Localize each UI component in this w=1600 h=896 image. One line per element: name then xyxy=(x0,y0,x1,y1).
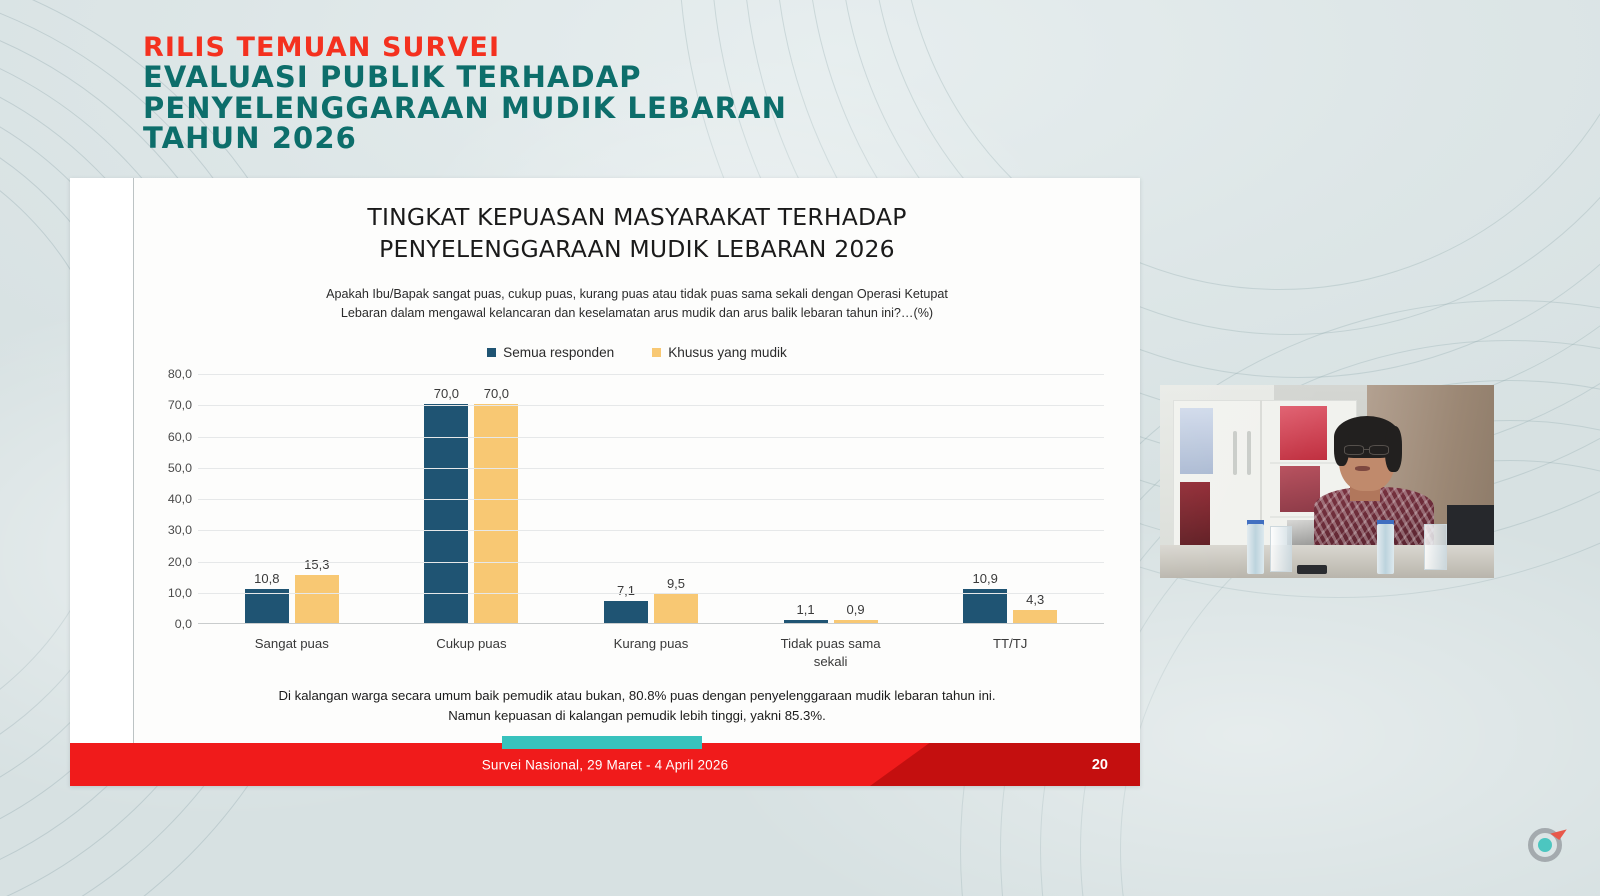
x-axis-tick-label: Cukup puas xyxy=(382,626,562,671)
x-axis-tick-line: Sangat puas xyxy=(202,635,382,653)
indikator-watermark-logo xyxy=(1528,828,1562,862)
bar-value-label: 9,5 xyxy=(667,576,685,591)
y-axis-tick-label: 70,0 xyxy=(168,398,192,412)
y-axis-tick-label: 0,0 xyxy=(175,617,192,631)
footer-page-number: 20 xyxy=(1092,757,1108,773)
chart-gridline xyxy=(198,374,1104,375)
chart-gridline xyxy=(198,593,1104,594)
y-axis-tick-label: 30,0 xyxy=(168,523,192,537)
y-axis-tick-label: 50,0 xyxy=(168,461,192,475)
bar[interactable] xyxy=(245,589,289,623)
bar-value-label: 10,9 xyxy=(973,571,998,586)
headline-line-4: TAHUN 2026 xyxy=(143,123,787,153)
bar[interactable] xyxy=(1013,610,1057,623)
chart-title-line-1: TINGKAT KEPUASAN MASYARAKAT TERHADAP xyxy=(134,202,1140,234)
footer-survey-label: Survei Nasional, 29 Maret - 4 April 2026 xyxy=(70,757,1140,772)
footer-accent-tab xyxy=(502,736,702,749)
chart-plot-area: 80,070,060,050,040,030,020,010,00,0 10,8… xyxy=(134,374,1140,624)
legend-item-semua-responden: Semua responden xyxy=(487,345,614,360)
legend-label: Semua responden xyxy=(503,345,614,360)
x-axis-tick-label: Tidak puas samasekali xyxy=(741,626,921,671)
bar-value-label: 4,3 xyxy=(1026,592,1044,607)
x-axis-tick-line: Tidak puas sama xyxy=(741,635,921,653)
chart-subtitle-line-2: Lebaran dalam mengawal kelancaran dan ke… xyxy=(224,304,1050,323)
headline-line-1: RILIS TEMUAN SURVEI xyxy=(143,34,787,62)
bar[interactable] xyxy=(834,620,878,623)
legend-label: Khusus yang mudik xyxy=(668,345,787,360)
y-axis-tick-label: 20,0 xyxy=(168,555,192,569)
y-axis-tick-label: 60,0 xyxy=(168,430,192,444)
presentation-slide: TINGKAT KEPUASAN MASYARAKAT TERHADAP PEN… xyxy=(70,178,1140,786)
chart-footnote: Di kalangan warga secara umum baik pemud… xyxy=(134,686,1140,726)
x-axis-tick-line: Kurang puas xyxy=(561,635,741,653)
legend-swatch-icon xyxy=(487,348,496,357)
pip-overlay xyxy=(1160,385,1494,578)
chart-gridline xyxy=(198,405,1104,406)
plot-canvas: 10,815,370,070,07,19,51,10,910,94,3 xyxy=(198,374,1104,624)
chart-gridline xyxy=(198,437,1104,438)
bar[interactable] xyxy=(654,594,698,624)
bar-value-label: 70,0 xyxy=(484,386,509,401)
chart-gridline xyxy=(198,530,1104,531)
bar[interactable] xyxy=(604,601,648,623)
legend-item-khusus-yang-mudik: Khusus yang mudik xyxy=(652,345,787,360)
bar[interactable] xyxy=(295,575,339,623)
footnote-line-1: Di kalangan warga secara umum baik pemud… xyxy=(194,686,1080,706)
x-axis-tick-line: TT/TJ xyxy=(920,635,1100,653)
chart-gridline xyxy=(198,562,1104,563)
x-axis-tick-line: Cukup puas xyxy=(382,635,562,653)
bar-value-label: 10,8 xyxy=(254,571,279,586)
chart-title: TINGKAT KEPUASAN MASYARAKAT TERHADAP PEN… xyxy=(134,202,1140,265)
chart-legend: Semua responden Khusus yang mudik xyxy=(134,345,1140,360)
chart-gridline xyxy=(198,499,1104,500)
y-axis: 80,070,060,050,040,030,020,010,00,0 xyxy=(134,374,198,624)
x-axis-tick-label: Sangat puas xyxy=(202,626,382,671)
y-axis-tick-label: 40,0 xyxy=(168,492,192,506)
chart-subtitle-line-1: Apakah Ibu/Bapak sangat puas, cukup puas… xyxy=(224,285,1050,304)
bar-value-label: 70,0 xyxy=(434,386,459,401)
x-axis-tick-line: sekali xyxy=(741,653,921,671)
chart-subtitle: Apakah Ibu/Bapak sangat puas, cukup puas… xyxy=(134,285,1140,323)
chart-title-line-2: PENYELENGGARAAN MUDIK LEBARAN 2026 xyxy=(134,234,1140,266)
watermark-dot xyxy=(1538,838,1552,852)
chart-gridline xyxy=(198,468,1104,469)
bar[interactable] xyxy=(784,620,828,623)
headline-line-3: PENYELENGGARAAN MUDIK LEBARAN xyxy=(143,93,787,123)
x-axis-tick-label: TT/TJ xyxy=(920,626,1100,671)
slide-footer: Survei Nasional, 29 Maret - 4 April 2026… xyxy=(70,743,1140,786)
page-title: RILIS TEMUAN SURVEI EVALUASI PUBLIK TERH… xyxy=(143,34,787,154)
bar-value-label: 7,1 xyxy=(617,583,635,598)
footnote-line-2: Namun kepuasan di kalangan pemudik lebih… xyxy=(194,706,1080,726)
y-axis-tick-label: 10,0 xyxy=(168,586,192,600)
bar-value-label: 1,1 xyxy=(797,602,815,617)
x-axis: Sangat puasCukup puasKurang puasTidak pu… xyxy=(198,626,1104,671)
legend-swatch-icon xyxy=(652,348,661,357)
bar-value-label: 0,9 xyxy=(847,602,865,617)
bar-value-label: 15,3 xyxy=(304,557,329,572)
x-axis-tick-label: Kurang puas xyxy=(561,626,741,671)
speaker-video-thumbnail[interactable] xyxy=(1160,385,1494,578)
headline-line-2: EVALUASI PUBLIK TERHADAP xyxy=(143,62,787,92)
slide-content: TINGKAT KEPUASAN MASYARAKAT TERHADAP PEN… xyxy=(134,178,1140,743)
y-axis-tick-label: 80,0 xyxy=(168,367,192,381)
bar[interactable] xyxy=(963,589,1007,623)
